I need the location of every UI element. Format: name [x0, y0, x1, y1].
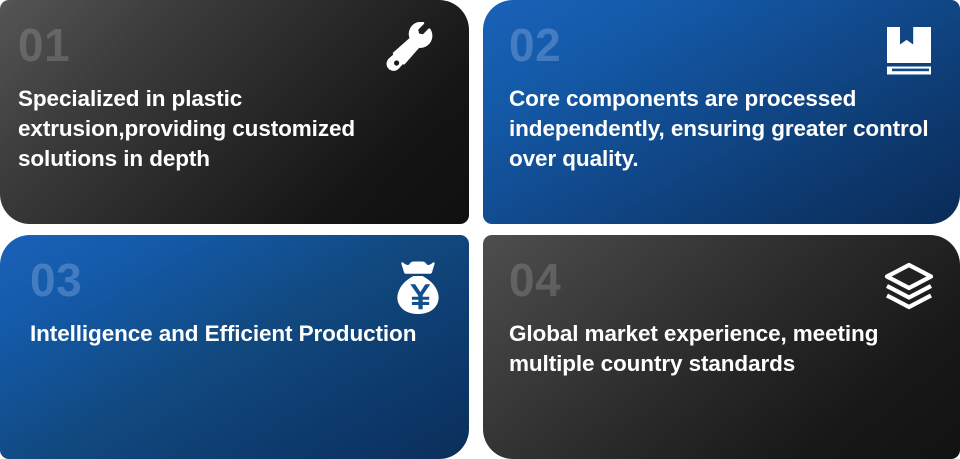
card-text-04: Global market experience, meeting multip…	[509, 319, 936, 379]
feature-card-04[interactable]: 04 Global market experience, meeting mul…	[483, 235, 960, 459]
feature-cards-grid: 01 Specialized in plastic extrusion,prov…	[0, 0, 960, 459]
card-number-04: 04	[509, 257, 936, 303]
card-text-01: Specialized in plastic extrusion,providi…	[18, 84, 445, 174]
feature-card-01[interactable]: 01 Specialized in plastic extrusion,prov…	[0, 0, 469, 224]
card-number-02: 02	[509, 22, 936, 68]
feature-card-02[interactable]: 02 Core components are processed indepen…	[483, 0, 960, 224]
card-number-01: 01	[18, 22, 445, 68]
card-text-02: Core components are processed independen…	[509, 84, 936, 174]
card-number-03: 03	[30, 257, 445, 303]
card-text-03: Intelligence and Efficient Production	[30, 319, 430, 349]
feature-card-03[interactable]: 03 Intelligence and Efficient Production	[0, 235, 469, 459]
